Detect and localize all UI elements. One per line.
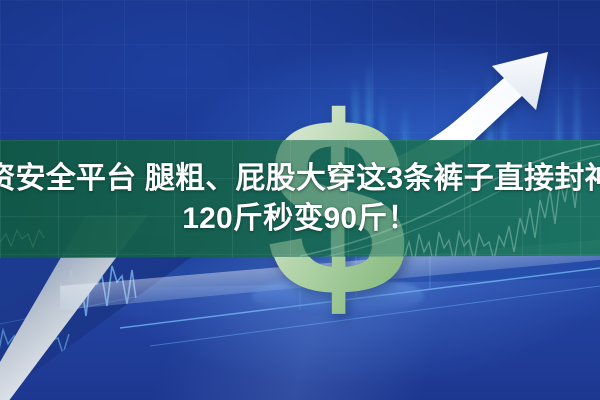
band-chart-lines [0, 140, 600, 258]
banner-image: $ $ $ [0, 0, 600, 400]
green-band: $ [0, 140, 600, 258]
bar-glow-9 [574, 70, 580, 148]
